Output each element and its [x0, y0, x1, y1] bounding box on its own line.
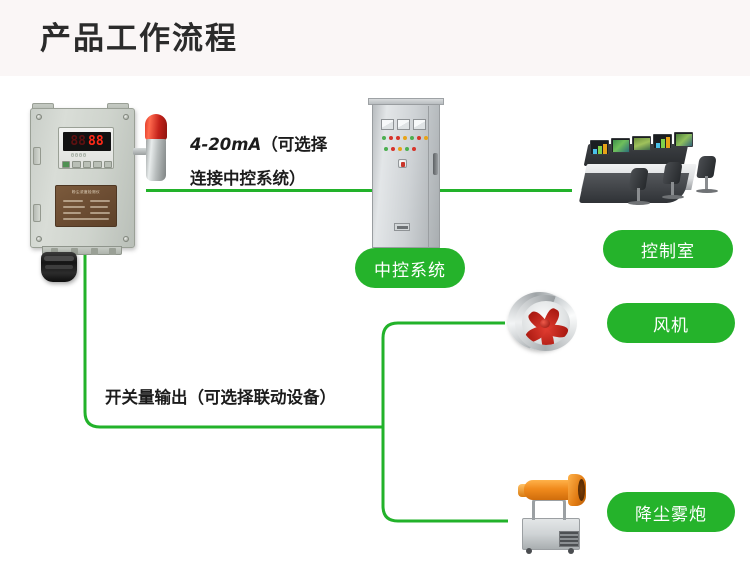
detector-nameplate-title: 粉尘浓度检测仪: [56, 190, 116, 195]
annotation-switch-output: 开关量输出（可选择联动设备）: [105, 384, 336, 408]
beacon-mount-arm: [133, 148, 147, 155]
screw-icon: [36, 114, 42, 120]
detector-lcd-subvalue: 0000: [71, 153, 105, 159]
lcd-digits-dim: 88: [70, 135, 86, 148]
fog-cannon-vent: [559, 531, 579, 547]
wire-branch-to-fan: [383, 323, 505, 427]
screw-icon: [123, 114, 129, 120]
cabinet-body: [372, 104, 440, 248]
dust-sensor-probe: [41, 252, 77, 282]
annotation-analog-line2: 连接中控系统）: [190, 162, 327, 196]
detector-keypad[interactable]: [62, 161, 112, 168]
control-cabinet: [368, 98, 444, 248]
wire-branch-to-fog-cannon: [383, 427, 508, 521]
cabinet-emergency-stop-button[interactable]: [398, 159, 407, 168]
beacon-body: [146, 139, 166, 181]
annotation-analog-prefix: 4-20mA: [190, 135, 261, 154]
cable-gland-icon: [109, 248, 116, 255]
page-title: 产品工作流程: [40, 17, 238, 61]
cabinet-label-plate: [394, 223, 410, 231]
annotation-analog-suffix: （可选择: [261, 135, 327, 154]
keypad-key-2[interactable]: [83, 161, 91, 168]
cabinet-indicator-led: [389, 136, 393, 140]
keypad-key-set[interactable]: [62, 161, 70, 168]
control-room-console: [578, 118, 740, 222]
monitor-screen: [611, 138, 630, 153]
cabinet-indicator-led: [410, 136, 414, 140]
label-dcs-system[interactable]: 中控系统: [355, 248, 465, 288]
cabinet-indicator-led: [412, 147, 416, 151]
cabinet-indicator-led: [403, 136, 407, 140]
label-control-room[interactable]: 控制室: [603, 230, 733, 268]
cabinet-meter: [397, 119, 410, 130]
cabinet-indicator-led: [398, 147, 402, 151]
cable-gland-icon: [91, 248, 98, 255]
cabinet-door-handle[interactable]: [433, 153, 438, 175]
office-chair: [660, 162, 686, 206]
label-fan[interactable]: 风机: [607, 303, 735, 343]
keypad-key-1[interactable]: [72, 161, 80, 168]
workflow-diagram: 产品工作流程 88 88 0000: [0, 0, 750, 588]
monitor-screen: [674, 132, 693, 147]
cabinet-meter: [413, 119, 426, 130]
cabinet-indicator-led: [424, 136, 428, 140]
alarm-beacon: [144, 114, 168, 186]
exhaust-fan: [508, 292, 580, 354]
annotation-analog-output: 4-20mA（可选择 连接中控系统）: [190, 128, 327, 196]
keypad-key-4[interactable]: [104, 161, 112, 168]
monitor-screen: [632, 136, 651, 151]
detector-hinge: [33, 147, 41, 165]
screw-icon: [36, 236, 42, 242]
cabinet-indicator-led: [396, 136, 400, 140]
cabinet-indicator-led: [391, 147, 395, 151]
cabinet-indicator-led: [384, 147, 388, 151]
detector-hinge: [33, 204, 41, 222]
lcd-digits-lit: 88: [88, 135, 104, 148]
monitor-screen: [653, 134, 672, 149]
label-fog-cannon[interactable]: 降尘雾炮: [607, 492, 735, 532]
fog-cannon-yoke: [532, 498, 566, 520]
cabinet-indicator-led: [382, 136, 386, 140]
detector-display-panel: 88 88 0000: [58, 127, 114, 169]
fog-cannon-nozzle: [568, 474, 586, 506]
fog-cannon-wheel: [568, 548, 574, 554]
keypad-key-3[interactable]: [93, 161, 101, 168]
fan-hub-cap: [540, 319, 550, 328]
fog-cannon-base-cabinet: [522, 518, 580, 550]
dust-suppression-fog-cannon: [512, 472, 596, 558]
detector-lcd: 88 88: [63, 132, 111, 151]
cabinet-indicator-led: [417, 136, 421, 140]
cabinet-meter: [381, 119, 394, 130]
office-chair: [626, 168, 652, 212]
beacon-red-dome: [145, 114, 167, 140]
detector-nameplate: 粉尘浓度检测仪: [55, 185, 117, 227]
screw-icon: [123, 236, 129, 242]
cabinet-indicator-led: [405, 147, 409, 151]
detector-enclosure: 88 88 0000 粉尘浓度检测仪: [30, 108, 135, 248]
detector-unit: 88 88 0000 粉尘浓度检测仪: [22, 100, 147, 270]
office-chair: [694, 156, 720, 200]
monitor-screen: [590, 140, 609, 155]
fog-cannon-wheel: [526, 548, 532, 554]
